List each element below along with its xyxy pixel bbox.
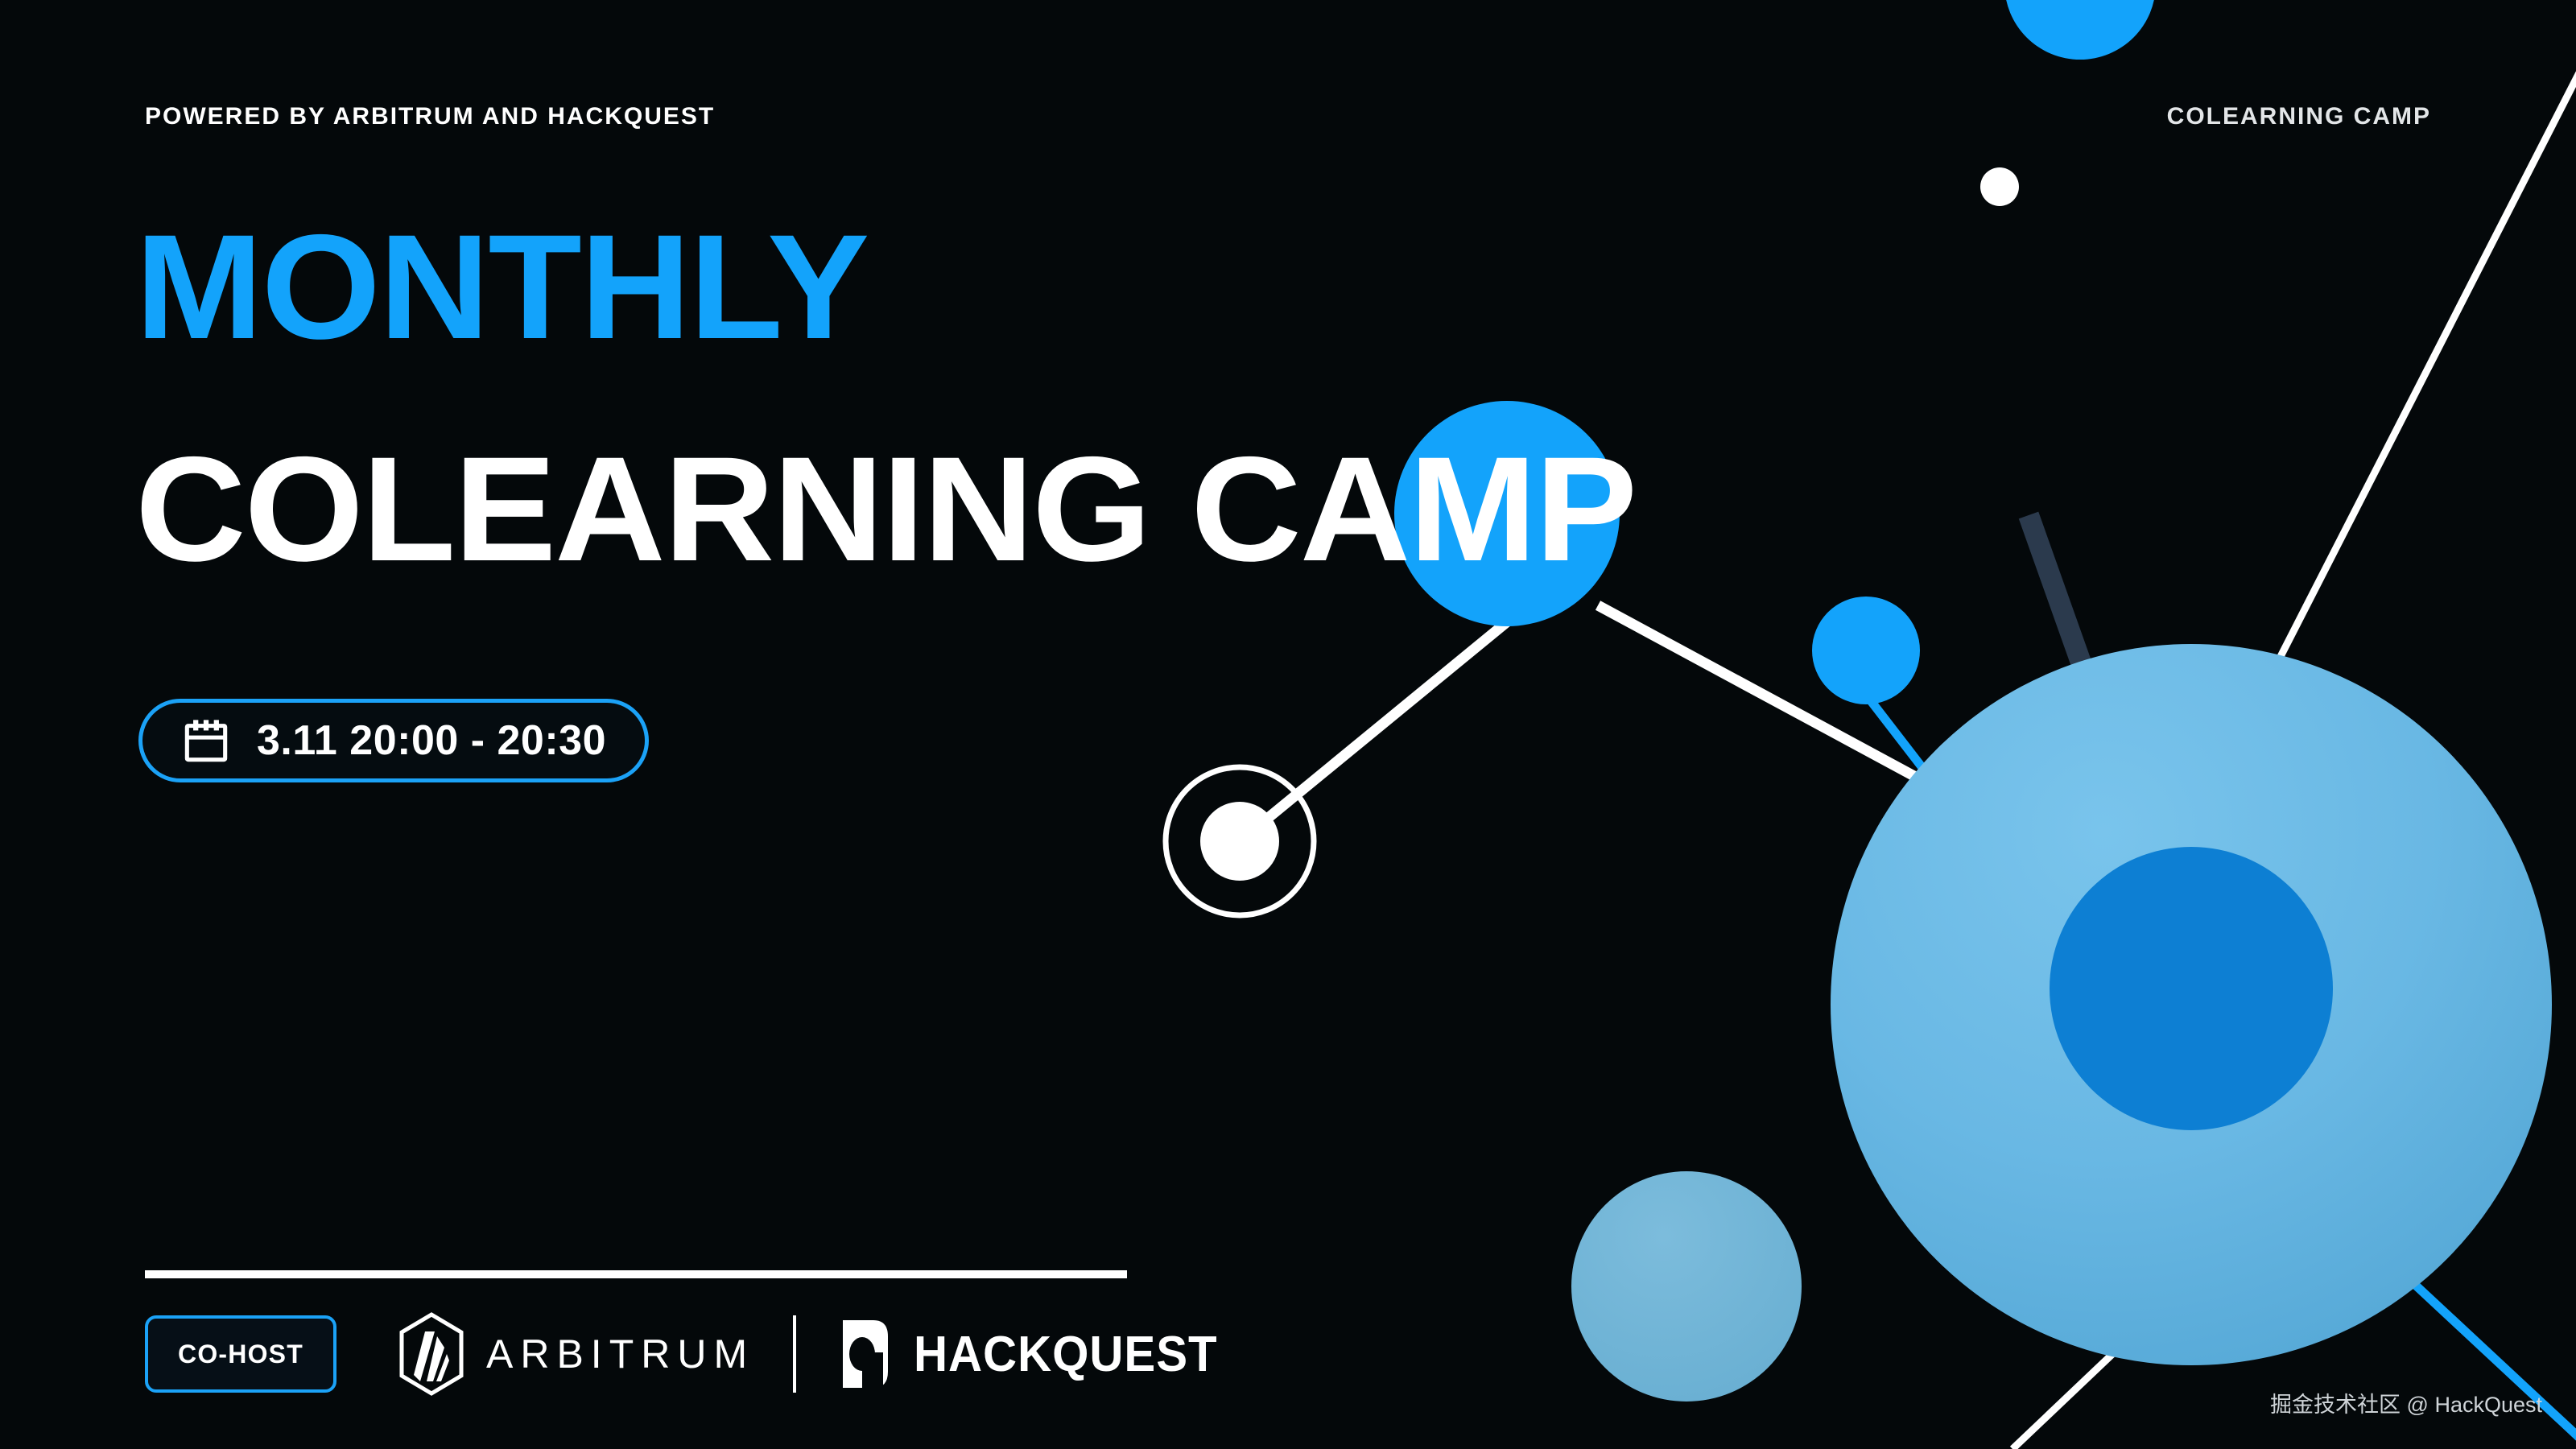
calendar-icon — [183, 717, 229, 764]
hackquest-wordmark: HACKQUEST — [914, 1326, 1218, 1383]
footer-partners-row: CO-HOST ARBITRUM HACKQUEST — [145, 1312, 1237, 1396]
schedule-text: 3.11 20:00 - 20:30 — [257, 716, 606, 765]
cohost-badge: CO-HOST — [145, 1315, 336, 1393]
powered-by-label: POWERED BY ARBITRUM AND HACKQUEST — [145, 103, 715, 130]
poster-canvas: POWERED BY ARBITRUM AND HACKQUEST COLEAR… — [0, 0, 2576, 1449]
event-type-label: COLEARNING CAMP — [2167, 103, 2431, 130]
watermark-text: 掘金技术社区 @ HackQuest — [2270, 1387, 2542, 1418]
headline-line-1: MONTHLY — [135, 219, 868, 356]
arbitrum-logo — [398, 1312, 465, 1396]
arbitrum-wordmark: ARBITRUM — [486, 1331, 754, 1377]
partner-separator — [793, 1315, 796, 1393]
schedule-badge: 3.11 20:00 - 20:30 — [138, 699, 649, 782]
partner-arbitrum: ARBITRUM — [398, 1312, 754, 1396]
headline-line-2: COLEARNING CAMP — [135, 441, 1636, 578]
partner-hackquest: HACKQUEST — [835, 1315, 1237, 1393]
hackquest-logo — [835, 1315, 896, 1393]
footer-divider-rule — [145, 1270, 1127, 1278]
